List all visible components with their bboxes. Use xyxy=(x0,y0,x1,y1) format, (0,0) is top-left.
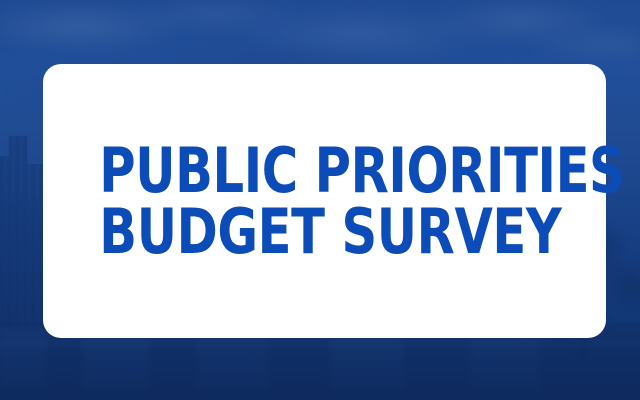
poster-title: PUBLIC PRIORITIES BUDGET SURVEY xyxy=(43,140,606,262)
survey-poster: PUBLIC PRIORITIES BUDGET SURVEY xyxy=(0,0,640,400)
title-card: PUBLIC PRIORITIES BUDGET SURVEY xyxy=(43,64,606,338)
title-line-primary: PUBLIC PRIORITIES xyxy=(99,140,549,201)
title-line-secondary: BUDGET SURVEY xyxy=(99,201,549,262)
